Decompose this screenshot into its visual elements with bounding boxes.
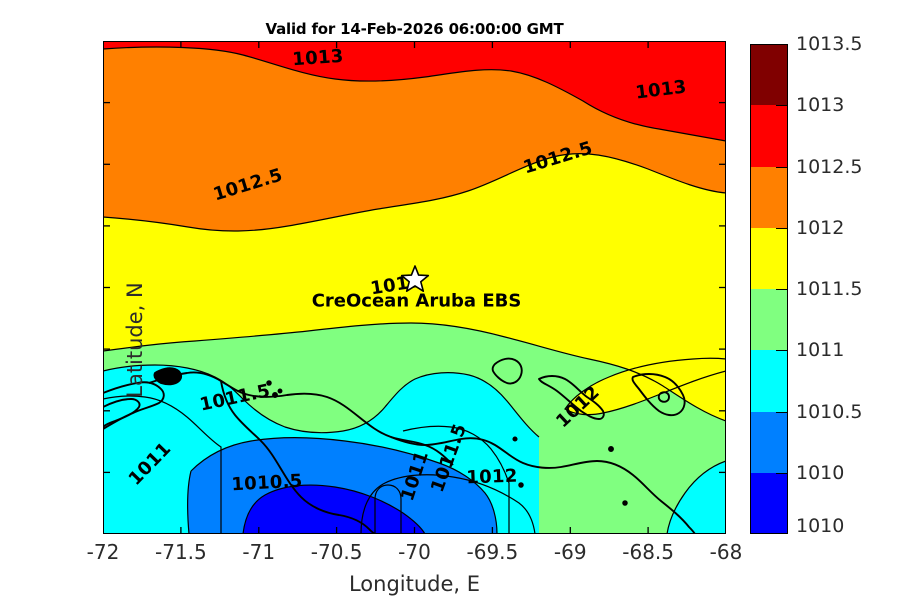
- station-name-label: CreOcean Aruba EBS: [312, 291, 522, 312]
- colorbar-tick-mark: [776, 167, 787, 168]
- colorbar-band: [750, 167, 788, 228]
- colorbar-band: [750, 44, 788, 105]
- colorbar-tick-mark: [776, 289, 787, 290]
- contour-label: 1010.5: [230, 471, 302, 496]
- colorbar-tick-mark: [776, 105, 787, 106]
- colorbar-band: [750, 412, 788, 473]
- x-tick-label: -68.5: [622, 540, 674, 564]
- colorbar-tick-mark: [776, 412, 787, 413]
- colorbar-tick-label: 1010: [796, 462, 844, 484]
- colorbar-tick-label: 1013: [796, 94, 844, 116]
- figure-title: Valid for 14-Feb-2026 06:00:00 GMT: [103, 20, 726, 38]
- x-tick-label: -69: [554, 540, 587, 564]
- colorbar-tick-label: 1012.5: [796, 156, 862, 178]
- colorbar-tick-label: 1011: [796, 339, 844, 361]
- colorbar-tick-mark: [776, 473, 787, 474]
- colorbar-tick-mark: [776, 350, 787, 351]
- colorbar-band: [750, 350, 788, 411]
- x-tick-label: -68: [710, 540, 743, 564]
- x-tick-label: -71.5: [155, 540, 207, 564]
- colorbar-band: [750, 289, 788, 350]
- x-tick-label: -72: [87, 540, 120, 564]
- x-axis-title: Longitude, E: [103, 572, 726, 596]
- colorbar-tick-label: 1011.5: [796, 278, 862, 300]
- x-tick-label: -70.5: [311, 540, 363, 564]
- contour-label: 1012: [466, 466, 518, 489]
- map-plot-area[interactable]: 101310131012.51012.51012101210121011.510…: [103, 41, 726, 534]
- colorbar-tick-label: 1010.5: [796, 401, 862, 423]
- contour-label: 1013: [292, 46, 345, 71]
- x-tick-label: -71: [242, 540, 275, 564]
- x-tick-label: -69.5: [467, 540, 519, 564]
- colorbar-tick-label: 1013.5: [796, 33, 862, 55]
- colorbar-band: [750, 228, 788, 289]
- colorbar-tick-label: 1012: [796, 217, 844, 239]
- colorbar-band: [750, 473, 788, 534]
- pressure-map-figure: Valid for 14-Feb-2026 06:00:00 GMT: [0, 0, 900, 600]
- y-axis-title: Latitude, N: [123, 210, 147, 470]
- colorbar-min-label: 1010: [796, 515, 844, 537]
- colorbar-band: [750, 105, 788, 166]
- colorbar-tick-mark: [776, 228, 787, 229]
- x-tick-label: -70: [398, 540, 431, 564]
